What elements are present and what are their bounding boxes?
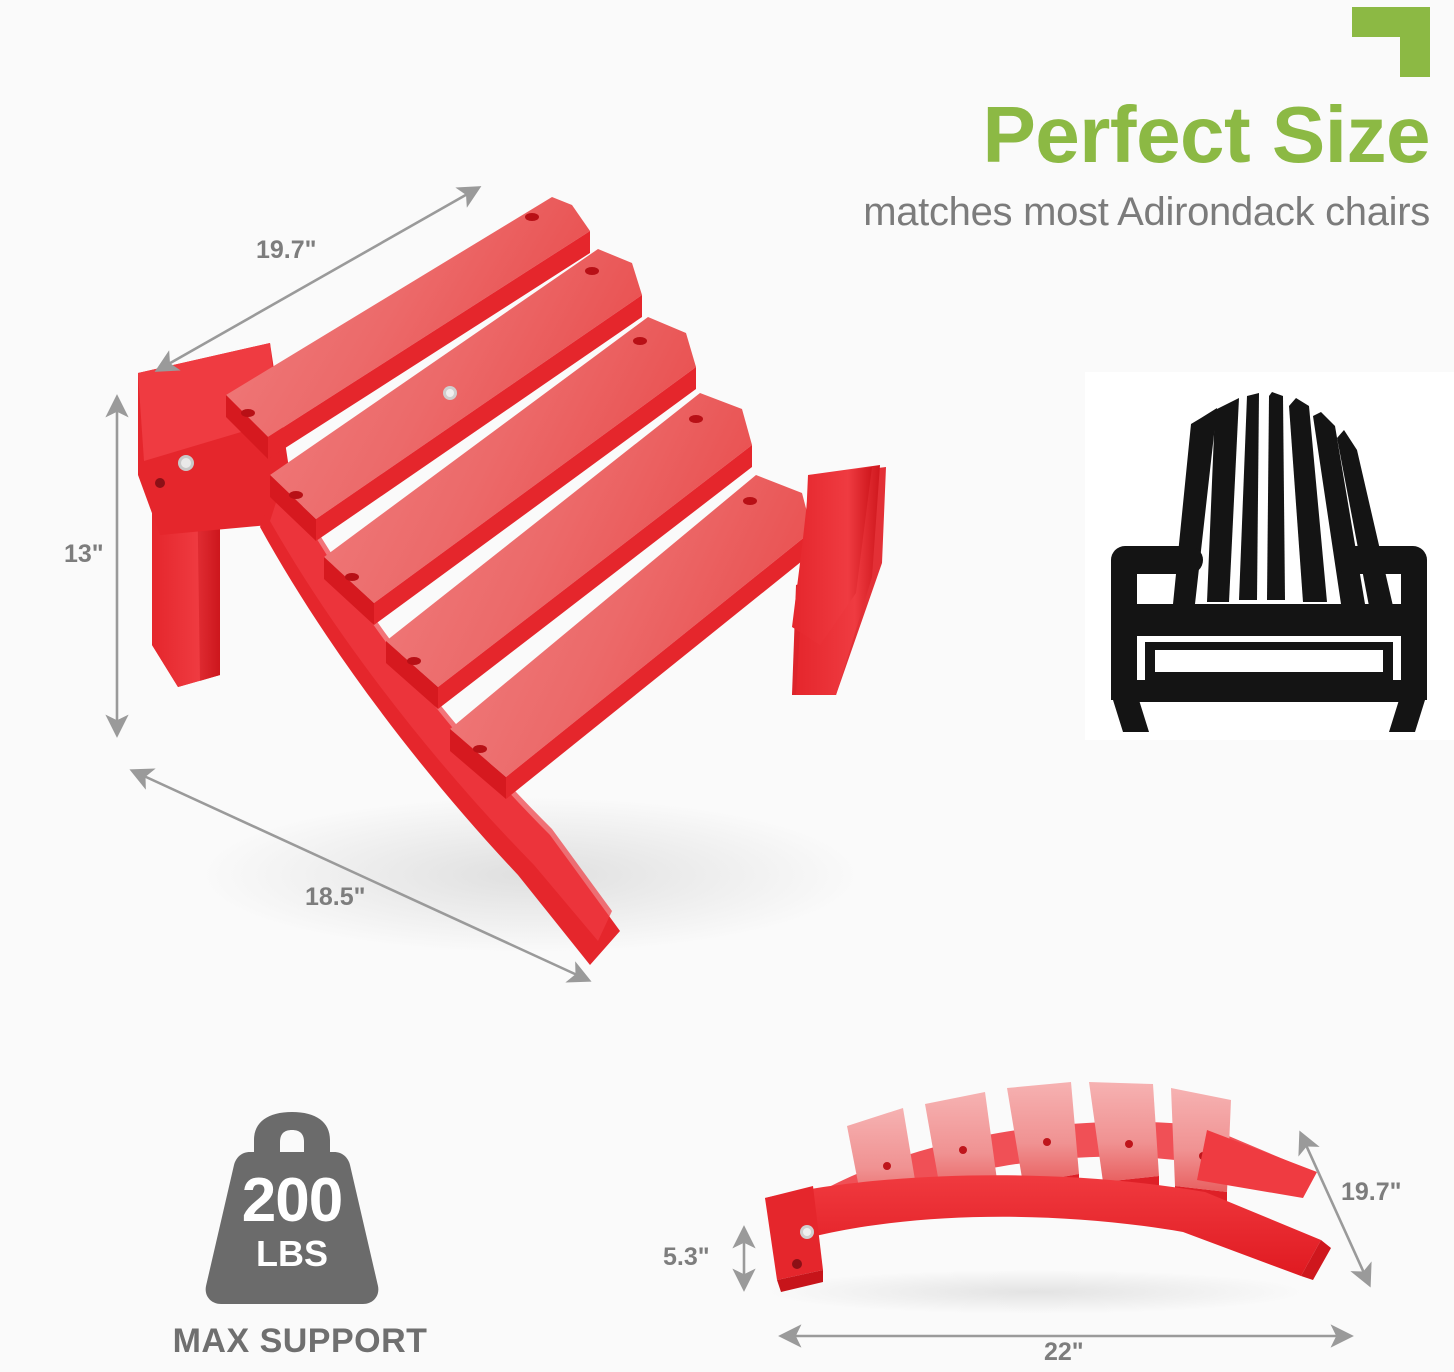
dimension-label-height: 13" (64, 540, 104, 569)
weight-value: 200 (192, 1170, 392, 1232)
adirondack-chair-silhouette-icon (1097, 380, 1442, 732)
dimension-label-depth: 18.5" (305, 883, 366, 912)
dimension-label-folded-length: 22" (1044, 1338, 1084, 1367)
adirondack-chair-panel (1085, 372, 1454, 740)
page-title: Perfect Size (670, 92, 1430, 178)
corner-bracket-vertical-bar (1400, 7, 1430, 77)
infographic-stage: Perfect Size matches most Adirondack cha… (0, 0, 1454, 1372)
max-support-caption: MAX SUPPORT (140, 1322, 460, 1361)
weight-unit: LBS (192, 1236, 392, 1272)
dimension-label-folded-width: 19.7" (1341, 1178, 1402, 1207)
dimension-label-folded-thickness: 5.3" (663, 1243, 710, 1272)
corner-bracket-icon (1352, 7, 1430, 77)
max-support-badge: 200 LBS MAX SUPPORT (150, 1110, 450, 1372)
red-adirondack-ottoman-angled-icon (120, 175, 940, 985)
dimension-label-width-top: 19.7" (256, 236, 317, 265)
red-adirondack-ottoman-folded-icon (735, 1080, 1355, 1315)
